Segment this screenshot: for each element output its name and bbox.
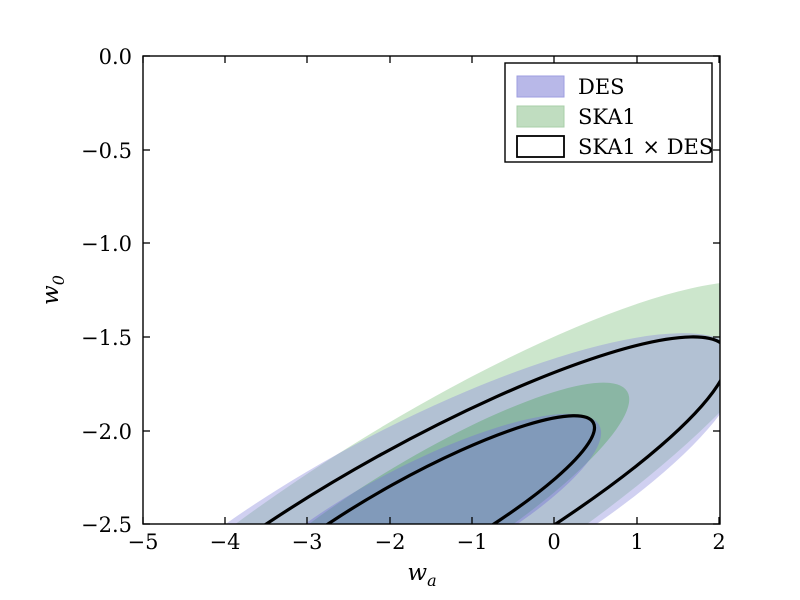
y-tick-label: −1.0 xyxy=(81,232,132,256)
legend-swatch-ska1-x-des xyxy=(517,136,564,157)
legend-swatch-ska1 xyxy=(517,106,564,127)
x-tick-label: −4 xyxy=(210,530,241,554)
x-tick-label: 1 xyxy=(630,530,643,554)
x-tick-label: −1 xyxy=(457,530,488,554)
contour-plot: −5 −4 −3 −2 −1 0 1 2 0.0 −0.5 xyxy=(0,0,800,600)
x-axis-tick-labels: −5 −4 −3 −2 −1 0 1 2 xyxy=(128,530,726,554)
x-axis-title: wa xyxy=(407,560,436,590)
x-tick-label: 0 xyxy=(547,530,560,554)
x-axis-title-base: w xyxy=(407,560,427,586)
y-tick-label: −2.0 xyxy=(81,420,132,444)
y-axis-title: w0 xyxy=(38,275,68,305)
legend[interactable]: DES SKA1 SKA1 × DES xyxy=(505,63,713,162)
x-tick-label: −3 xyxy=(292,530,323,554)
y-axis-tick-labels: 0.0 −0.5 −1.0 −1.5 −2.0 −2.5 xyxy=(81,45,132,537)
legend-swatch-des xyxy=(517,76,564,97)
legend-label-des: DES xyxy=(578,75,625,99)
y-axis-title-base: w xyxy=(38,285,64,305)
y-tick-label: −0.5 xyxy=(81,139,132,163)
y-tick-label: −2.5 xyxy=(81,513,132,537)
legend-item-ska1-x-des[interactable]: SKA1 × DES xyxy=(517,135,713,159)
x-tick-label: 2 xyxy=(712,530,725,554)
legend-label-ska1-x-des: SKA1 × DES xyxy=(578,135,713,159)
x-tick-label: −2 xyxy=(375,530,406,554)
x-tick-label: −5 xyxy=(128,530,159,554)
y-axis-title-sub: 0 xyxy=(49,275,68,285)
legend-label-ska1: SKA1 xyxy=(578,105,636,129)
figure-canvas: −5 −4 −3 −2 −1 0 1 2 0.0 −0.5 xyxy=(0,0,800,600)
y-tick-label: −1.5 xyxy=(81,326,132,350)
y-tick-label: 0.0 xyxy=(99,45,132,69)
x-axis-title-sub: a xyxy=(427,571,437,590)
